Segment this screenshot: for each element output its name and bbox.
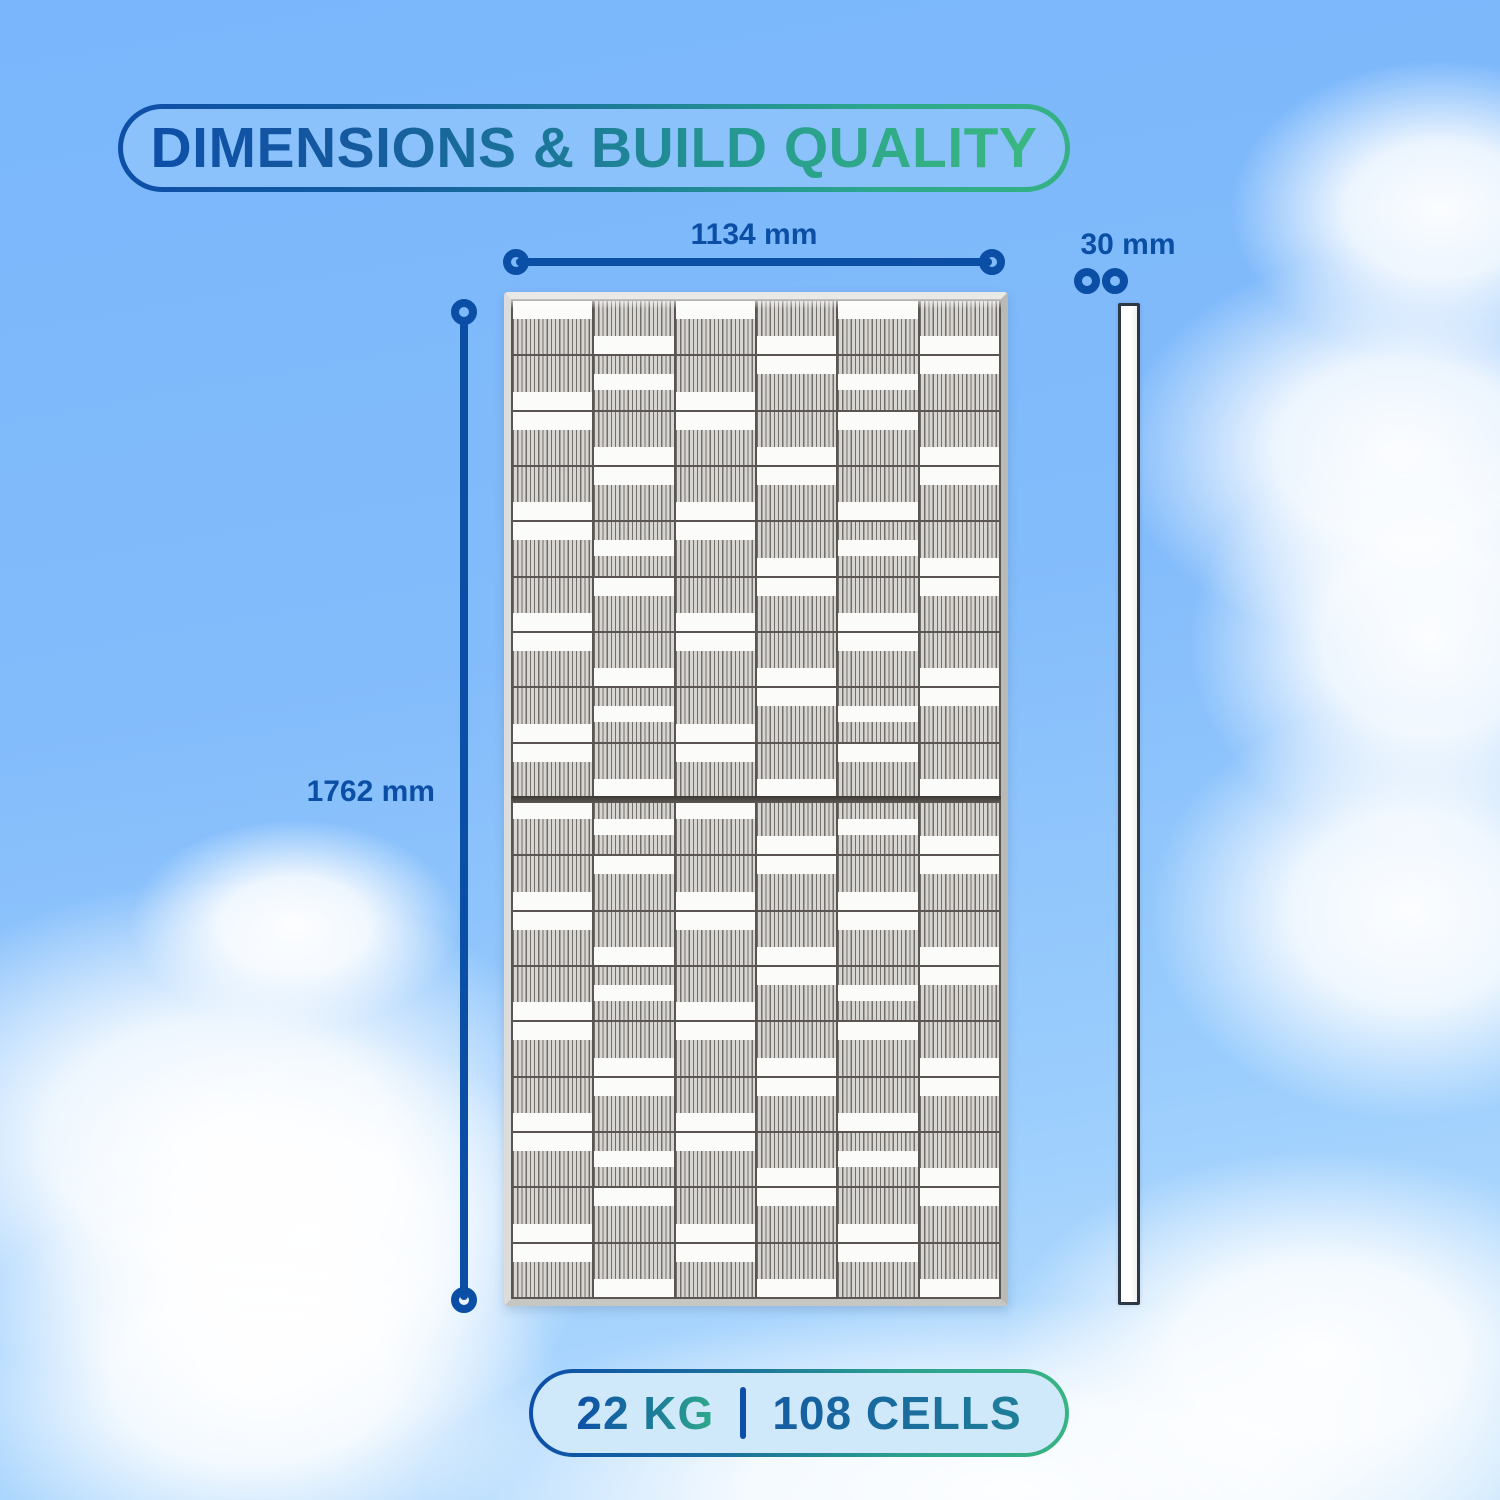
solar-cell xyxy=(838,967,917,1020)
solar-cell xyxy=(757,1078,836,1131)
solar-cell xyxy=(838,1188,917,1241)
solar-cell xyxy=(757,1188,836,1241)
solar-cell xyxy=(920,1022,999,1075)
solar-cell xyxy=(594,1078,673,1131)
solar-cell xyxy=(757,1244,836,1297)
solar-cell xyxy=(920,578,999,631)
solar-cell xyxy=(513,801,592,854)
cell-column xyxy=(838,301,917,797)
cell-column xyxy=(676,301,755,797)
solar-cell xyxy=(676,467,755,520)
solar-cell xyxy=(513,578,592,631)
solar-cell xyxy=(920,1188,999,1241)
solar-cell xyxy=(513,356,592,409)
thickness-dimension-label: 30 mm xyxy=(1028,228,1228,262)
height-endpoint-bottom-icon xyxy=(451,1287,477,1313)
solar-cell xyxy=(838,1078,917,1131)
solar-cell xyxy=(594,467,673,520)
panel-half-top xyxy=(511,299,1001,799)
solar-cell xyxy=(838,633,917,686)
solar-cell xyxy=(594,912,673,965)
panel-center-busbar xyxy=(511,796,1001,803)
solar-cell xyxy=(920,633,999,686)
solar-cell xyxy=(757,633,836,686)
solar-cell xyxy=(513,744,592,797)
solar-cell xyxy=(676,1133,755,1186)
cell-column xyxy=(757,301,836,797)
thickness-endpoint-left-icon xyxy=(1074,268,1100,294)
solar-cell xyxy=(513,1078,592,1131)
solar-cell xyxy=(676,1244,755,1297)
solar-cell xyxy=(757,1133,836,1186)
solar-cell xyxy=(594,967,673,1020)
solar-cell xyxy=(838,1244,917,1297)
width-dimension-label: 1134 mm xyxy=(516,218,992,252)
solar-cell xyxy=(676,633,755,686)
solar-cell xyxy=(920,467,999,520)
solar-cell xyxy=(838,744,917,797)
solar-cell xyxy=(757,801,836,854)
solar-panel-front-view xyxy=(504,292,1008,1306)
solar-cell xyxy=(757,688,836,741)
solar-cell xyxy=(676,744,755,797)
solar-cell xyxy=(676,856,755,909)
infographic-canvas: DIMENSIONS & BUILD QUALITY 1134 mm 1762 … xyxy=(0,0,1500,1500)
solar-cell xyxy=(920,801,999,854)
solar-cell xyxy=(676,1078,755,1131)
solar-cell xyxy=(676,412,755,465)
solar-cell xyxy=(513,912,592,965)
cell-column xyxy=(513,301,592,797)
solar-cell xyxy=(920,522,999,575)
cell-column xyxy=(594,301,673,797)
cell-column xyxy=(920,801,999,1297)
solar-cell xyxy=(757,412,836,465)
solar-cell xyxy=(676,688,755,741)
solar-cell xyxy=(676,578,755,631)
solar-cell xyxy=(594,356,673,409)
cell-column xyxy=(920,301,999,797)
cell-column xyxy=(594,801,673,1297)
solar-cell xyxy=(757,356,836,409)
cell-column xyxy=(513,801,592,1297)
panel-half-bottom xyxy=(511,799,1001,1299)
solar-cell xyxy=(838,856,917,909)
solar-cell xyxy=(513,1133,592,1186)
solar-cell xyxy=(757,856,836,909)
solar-cell xyxy=(513,522,592,575)
solar-cell xyxy=(838,1133,917,1186)
solar-cell xyxy=(920,912,999,965)
solar-cell xyxy=(920,1133,999,1186)
solar-cell xyxy=(513,688,592,741)
width-endpoint-left-icon xyxy=(503,249,529,275)
thickness-endpoint-right-icon xyxy=(1102,268,1128,294)
solar-cell xyxy=(757,744,836,797)
solar-cell xyxy=(513,633,592,686)
solar-cell xyxy=(676,356,755,409)
solar-cell xyxy=(594,801,673,854)
solar-cell xyxy=(513,856,592,909)
solar-cell xyxy=(594,522,673,575)
solar-cell xyxy=(757,301,836,354)
panel-side-profile xyxy=(1118,303,1140,1305)
solar-cell xyxy=(838,688,917,741)
width-dimension-line xyxy=(516,258,992,266)
page-title: DIMENSIONS & BUILD QUALITY xyxy=(150,115,1037,181)
spec-summary-pill: 22 KG 108 CELLS xyxy=(529,1369,1069,1457)
solar-cell xyxy=(920,744,999,797)
solar-cell xyxy=(513,301,592,354)
solar-cell xyxy=(838,912,917,965)
solar-cell xyxy=(920,412,999,465)
solar-cell xyxy=(594,1133,673,1186)
solar-cell xyxy=(838,301,917,354)
solar-cell xyxy=(757,1022,836,1075)
solar-cell xyxy=(594,856,673,909)
width-endpoint-right-icon xyxy=(979,249,1005,275)
solar-cell xyxy=(513,412,592,465)
solar-cell xyxy=(838,522,917,575)
solar-cell xyxy=(513,467,592,520)
solar-cell xyxy=(757,967,836,1020)
solar-cell xyxy=(594,412,673,465)
spec-divider xyxy=(740,1387,746,1439)
solar-cell xyxy=(838,356,917,409)
solar-cell xyxy=(838,1022,917,1075)
solar-cell xyxy=(594,744,673,797)
cell-column xyxy=(676,801,755,1297)
solar-cell xyxy=(676,1022,755,1075)
solar-cell xyxy=(594,1188,673,1241)
solar-cell xyxy=(676,801,755,854)
solar-cell xyxy=(594,633,673,686)
height-dimension-line xyxy=(460,320,468,1300)
solar-cell xyxy=(676,912,755,965)
solar-cell xyxy=(920,301,999,354)
solar-cell xyxy=(513,1244,592,1297)
solar-cell xyxy=(676,967,755,1020)
solar-cell xyxy=(920,967,999,1020)
spec-weight-value: 22 KG xyxy=(576,1386,714,1440)
solar-cell xyxy=(594,1022,673,1075)
solar-cell xyxy=(594,301,673,354)
solar-cell xyxy=(920,1244,999,1297)
solar-cell xyxy=(513,1022,592,1075)
solar-cell xyxy=(838,801,917,854)
solar-cell xyxy=(838,412,917,465)
page-title-pill: DIMENSIONS & BUILD QUALITY xyxy=(118,104,1070,192)
solar-cell xyxy=(757,467,836,520)
solar-cell xyxy=(676,301,755,354)
cell-column xyxy=(838,801,917,1297)
solar-cell xyxy=(920,856,999,909)
solar-cell xyxy=(757,912,836,965)
solar-cell xyxy=(757,578,836,631)
solar-cell xyxy=(594,1244,673,1297)
cell-column xyxy=(757,801,836,1297)
solar-cell xyxy=(920,1078,999,1131)
solar-cell xyxy=(594,688,673,741)
solar-cell xyxy=(838,578,917,631)
solar-cell xyxy=(513,967,592,1020)
solar-cell xyxy=(920,688,999,741)
height-dimension-label: 1762 mm xyxy=(180,775,435,809)
solar-cell xyxy=(676,522,755,575)
solar-cell xyxy=(676,1188,755,1241)
solar-cell xyxy=(757,522,836,575)
solar-cell xyxy=(513,1188,592,1241)
solar-cell xyxy=(594,578,673,631)
solar-cell xyxy=(920,356,999,409)
solar-cell xyxy=(838,467,917,520)
height-endpoint-top-icon xyxy=(451,299,477,325)
spec-cell-count-value: 108 CELLS xyxy=(772,1386,1021,1440)
